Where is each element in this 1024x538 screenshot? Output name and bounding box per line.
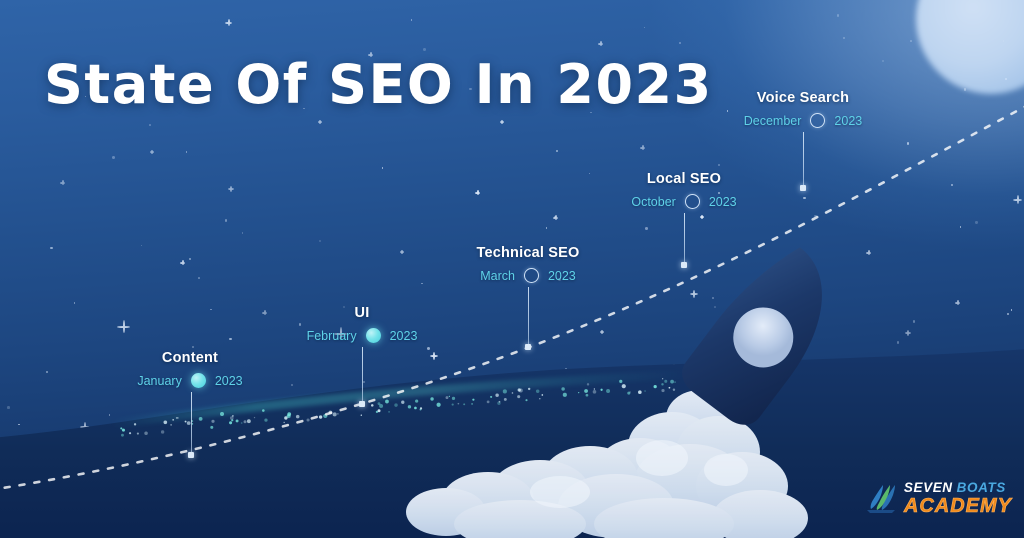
milestone-label: Content [110, 350, 270, 366]
milestone-month: January [137, 374, 181, 388]
milestone-month: December [744, 114, 802, 128]
seven-boats-academy-logo[interactable]: SEVENBOATS ACADEMY [864, 481, 1012, 517]
milestone-year: 2023 [390, 329, 418, 343]
milestone-date-row: February 2023 [282, 328, 442, 343]
milestone-stem-end-dot [188, 452, 194, 458]
logo-line-1: SEVENBOATS [904, 481, 1012, 495]
sail-boat-icon [864, 481, 898, 515]
milestone-technical-seo[interactable]: Technical SEO March 2023 [448, 245, 608, 283]
milestone-month: October [631, 195, 675, 209]
infographic-canvas: State Of SEO In 2023 Content January 202… [0, 0, 1024, 538]
milestone-year: 2023 [548, 269, 576, 283]
milestone-stem-end-dot [525, 344, 531, 350]
milestone-label: Technical SEO [448, 245, 608, 261]
milestone-label: UI [282, 305, 442, 321]
page-title: State Of SEO In 2023 [44, 53, 713, 116]
milestone-marker-ring-icon[interactable] [524, 268, 539, 283]
milestone-ui[interactable]: UI February 2023 [282, 305, 442, 343]
milestone-date-row: December 2023 [723, 113, 883, 128]
milestone-stem [684, 213, 686, 265]
milestone-month: February [307, 329, 357, 343]
milestone-year: 2023 [215, 374, 243, 388]
milestone-stem [803, 132, 805, 188]
milestone-stem [191, 392, 193, 455]
logo-academy: ACADEMY [904, 496, 1012, 516]
logo-seven: SEVEN [904, 480, 953, 495]
milestone-stem-end-dot [359, 401, 365, 407]
milestone-stem [362, 347, 364, 404]
milestone-local-seo[interactable]: Local SEO October 2023 [604, 171, 764, 209]
logo-text: SEVENBOATS ACADEMY [904, 481, 1012, 517]
milestone-year: 2023 [834, 114, 862, 128]
milestone-stem-end-dot [800, 185, 806, 191]
milestone-date-row: October 2023 [604, 194, 764, 209]
milestone-date-row: January 2023 [110, 373, 270, 388]
milestone-marker-filled-icon[interactable] [191, 373, 206, 388]
milestone-month: March [480, 269, 515, 283]
milestone-marker-ring-icon[interactable] [810, 113, 825, 128]
milestone-voice-search[interactable]: Voice Search December 2023 [723, 90, 883, 128]
milestone-date-row: March 2023 [448, 268, 608, 283]
milestone-stem [528, 287, 530, 347]
milestone-marker-filled-icon[interactable] [366, 328, 381, 343]
logo-boats: BOATS [957, 480, 1006, 495]
milestone-marker-ring-icon[interactable] [685, 194, 700, 209]
milestone-year: 2023 [709, 195, 737, 209]
milestone-label: Voice Search [723, 90, 883, 106]
milestone-content[interactable]: Content January 2023 [110, 350, 270, 388]
milestone-label: Local SEO [604, 171, 764, 187]
milestone-stem-end-dot [681, 262, 687, 268]
